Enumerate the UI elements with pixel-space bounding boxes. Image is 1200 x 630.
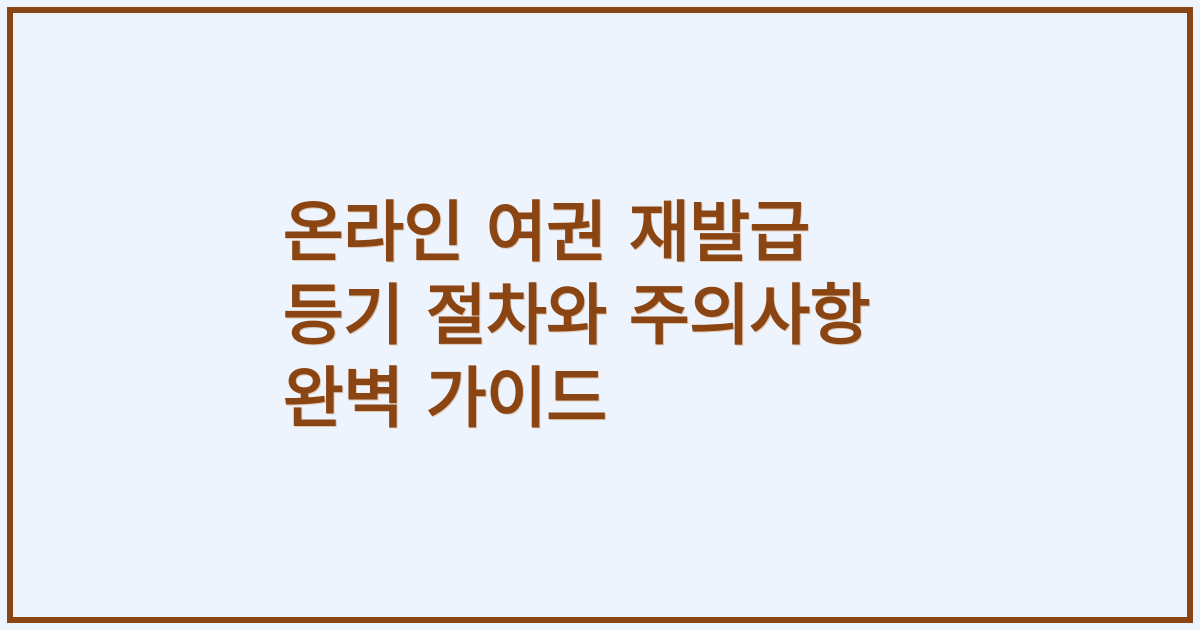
headline-line-3: 완벽 가이드 [283,357,1143,440]
headline-line-1: 온라인 여권 재발급 [283,191,1143,274]
content-area: 온라인 여권 재발급 등기 절차와 주의사항 완벽 가이드 [13,13,1187,617]
headline-block: 온라인 여권 재발급 등기 절차와 주의사항 완벽 가이드 [283,191,1143,440]
thumbnail-canvas: 온라인 여권 재발급 등기 절차와 주의사항 완벽 가이드 [0,0,1200,630]
headline-line-2: 등기 절차와 주의사항 [283,274,1143,357]
